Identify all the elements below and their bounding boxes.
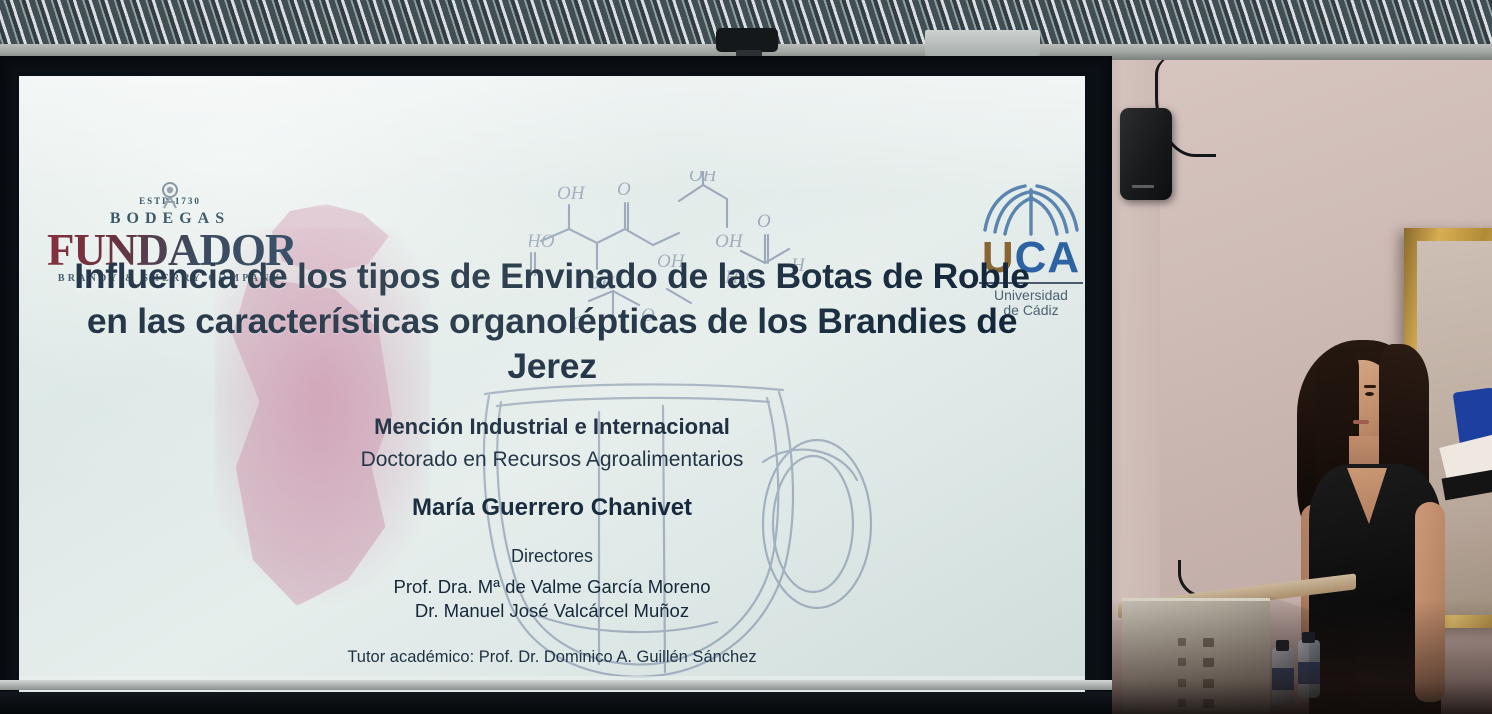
ceiling-light-panel [925,30,1040,56]
slide-author: María Guerrero Chanivet [59,494,1045,522]
svg-text:O: O [617,179,631,200]
ceiling-projector [716,28,778,52]
svg-text:HO: HO [529,231,555,252]
speaker-brand-label [1132,185,1154,188]
slide-tutor: Tutor académico: Prof. Dr. Dominico A. G… [59,648,1045,667]
presenter-brow-right [1364,385,1376,388]
slide-mencion: Mención Industrial e Internacional [59,414,1045,440]
fundador-seal-icon [155,180,185,210]
svg-text:OH: OH [689,171,718,186]
presentation-photo-scene: OH HO OH O OH OH OH O H₃C H O O [0,0,1492,714]
svg-text:O: O [757,211,771,232]
slide-programme: Doctorado en Recursos Agroalimentarios [59,448,1045,472]
presenter-mouth [1353,420,1369,424]
slide-title: Influencia de los tipos de Envinado de l… [59,254,1045,389]
floor-shadow [1090,600,1492,714]
below-screen-shadow [0,692,1112,714]
presentation-slide: OH HO OH O OH OH OH O H₃C H O O [19,76,1085,692]
presenter-eye-right [1365,392,1374,396]
slide-director-1: Prof. Dra. Mª de Valme García Moreno [59,576,1045,598]
svg-text:OH: OH [715,231,744,252]
uca-wave-icon [971,184,1085,236]
slide-director-2: Dr. Manuel José Valcárcel Muñoz [59,600,1045,622]
screen-bottom-rail [0,680,1112,690]
svg-text:OH: OH [557,183,586,204]
slide-directors-label: Directores [59,546,1045,567]
